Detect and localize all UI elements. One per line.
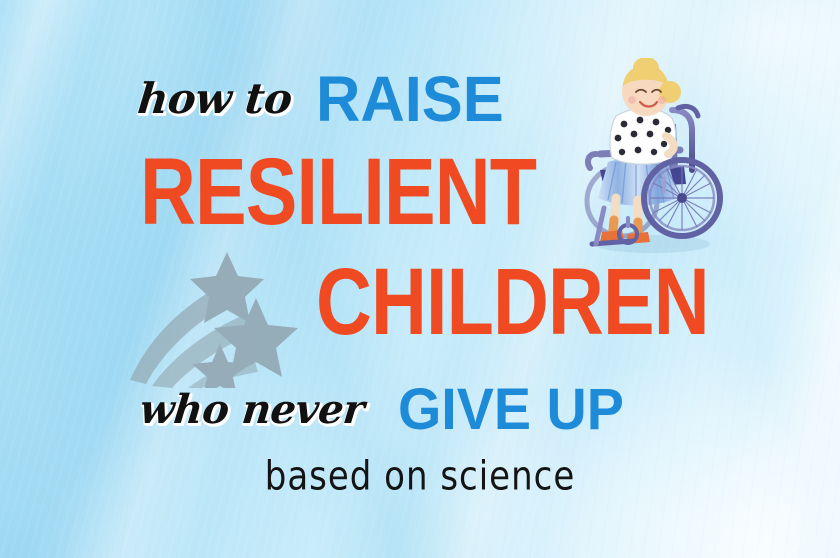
headline-line-4-display: GIVE UP — [398, 376, 633, 443]
poster-canvas: how to RAISE RESILIENT CHILDREN who neve… — [0, 0, 840, 558]
text-raise: RAISE — [316, 62, 504, 136]
headline-line-1-script: how to — [138, 74, 292, 123]
headline-line-1-display: RAISE — [316, 62, 512, 136]
headline-block: how to RAISE RESILIENT CHILDREN who neve… — [0, 0, 840, 558]
text-give-up: GIVE UP — [398, 376, 624, 443]
text-who-never: who never — [138, 386, 367, 433]
text-resilient: RESILIENT — [140, 138, 536, 247]
headline-line-2-display: RESILIENT — [140, 148, 580, 247]
headline-subline: based on science — [0, 460, 840, 500]
headline-line-3-display: CHILDREN — [316, 258, 752, 357]
text-how-to: how to — [135, 74, 294, 123]
headline-line-4-script: who never — [140, 386, 364, 433]
text-based-on-science: based on science — [265, 453, 576, 500]
text-children: CHILDREN — [316, 248, 709, 357]
